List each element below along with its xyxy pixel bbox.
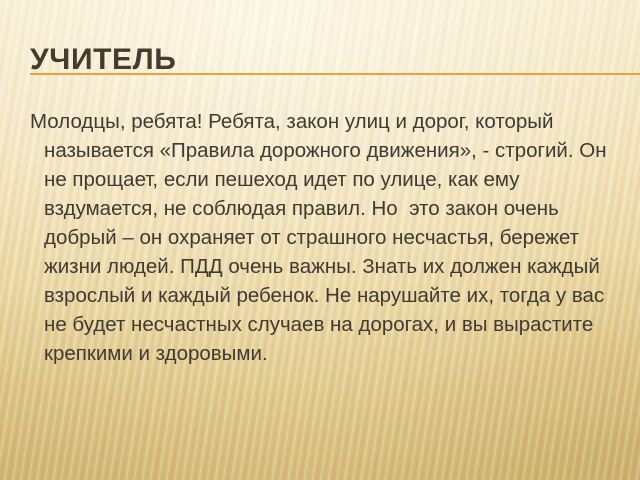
slide-canvas: УЧИТЕЛЬ Молодцы, ребята! Ребята, закон у…: [0, 0, 640, 480]
page-title: УЧИТЕЛЬ: [30, 42, 176, 78]
slide-content: УЧИТЕЛЬ Молодцы, ребята! Ребята, закон у…: [0, 0, 640, 480]
body-paragraph: Молодцы, ребята! Ребята, закон улиц и до…: [30, 107, 612, 368]
slide-title-block: УЧИТЕЛЬ: [30, 42, 640, 82]
slide-body-block: Молодцы, ребята! Ребята, закон улиц и до…: [30, 107, 612, 368]
